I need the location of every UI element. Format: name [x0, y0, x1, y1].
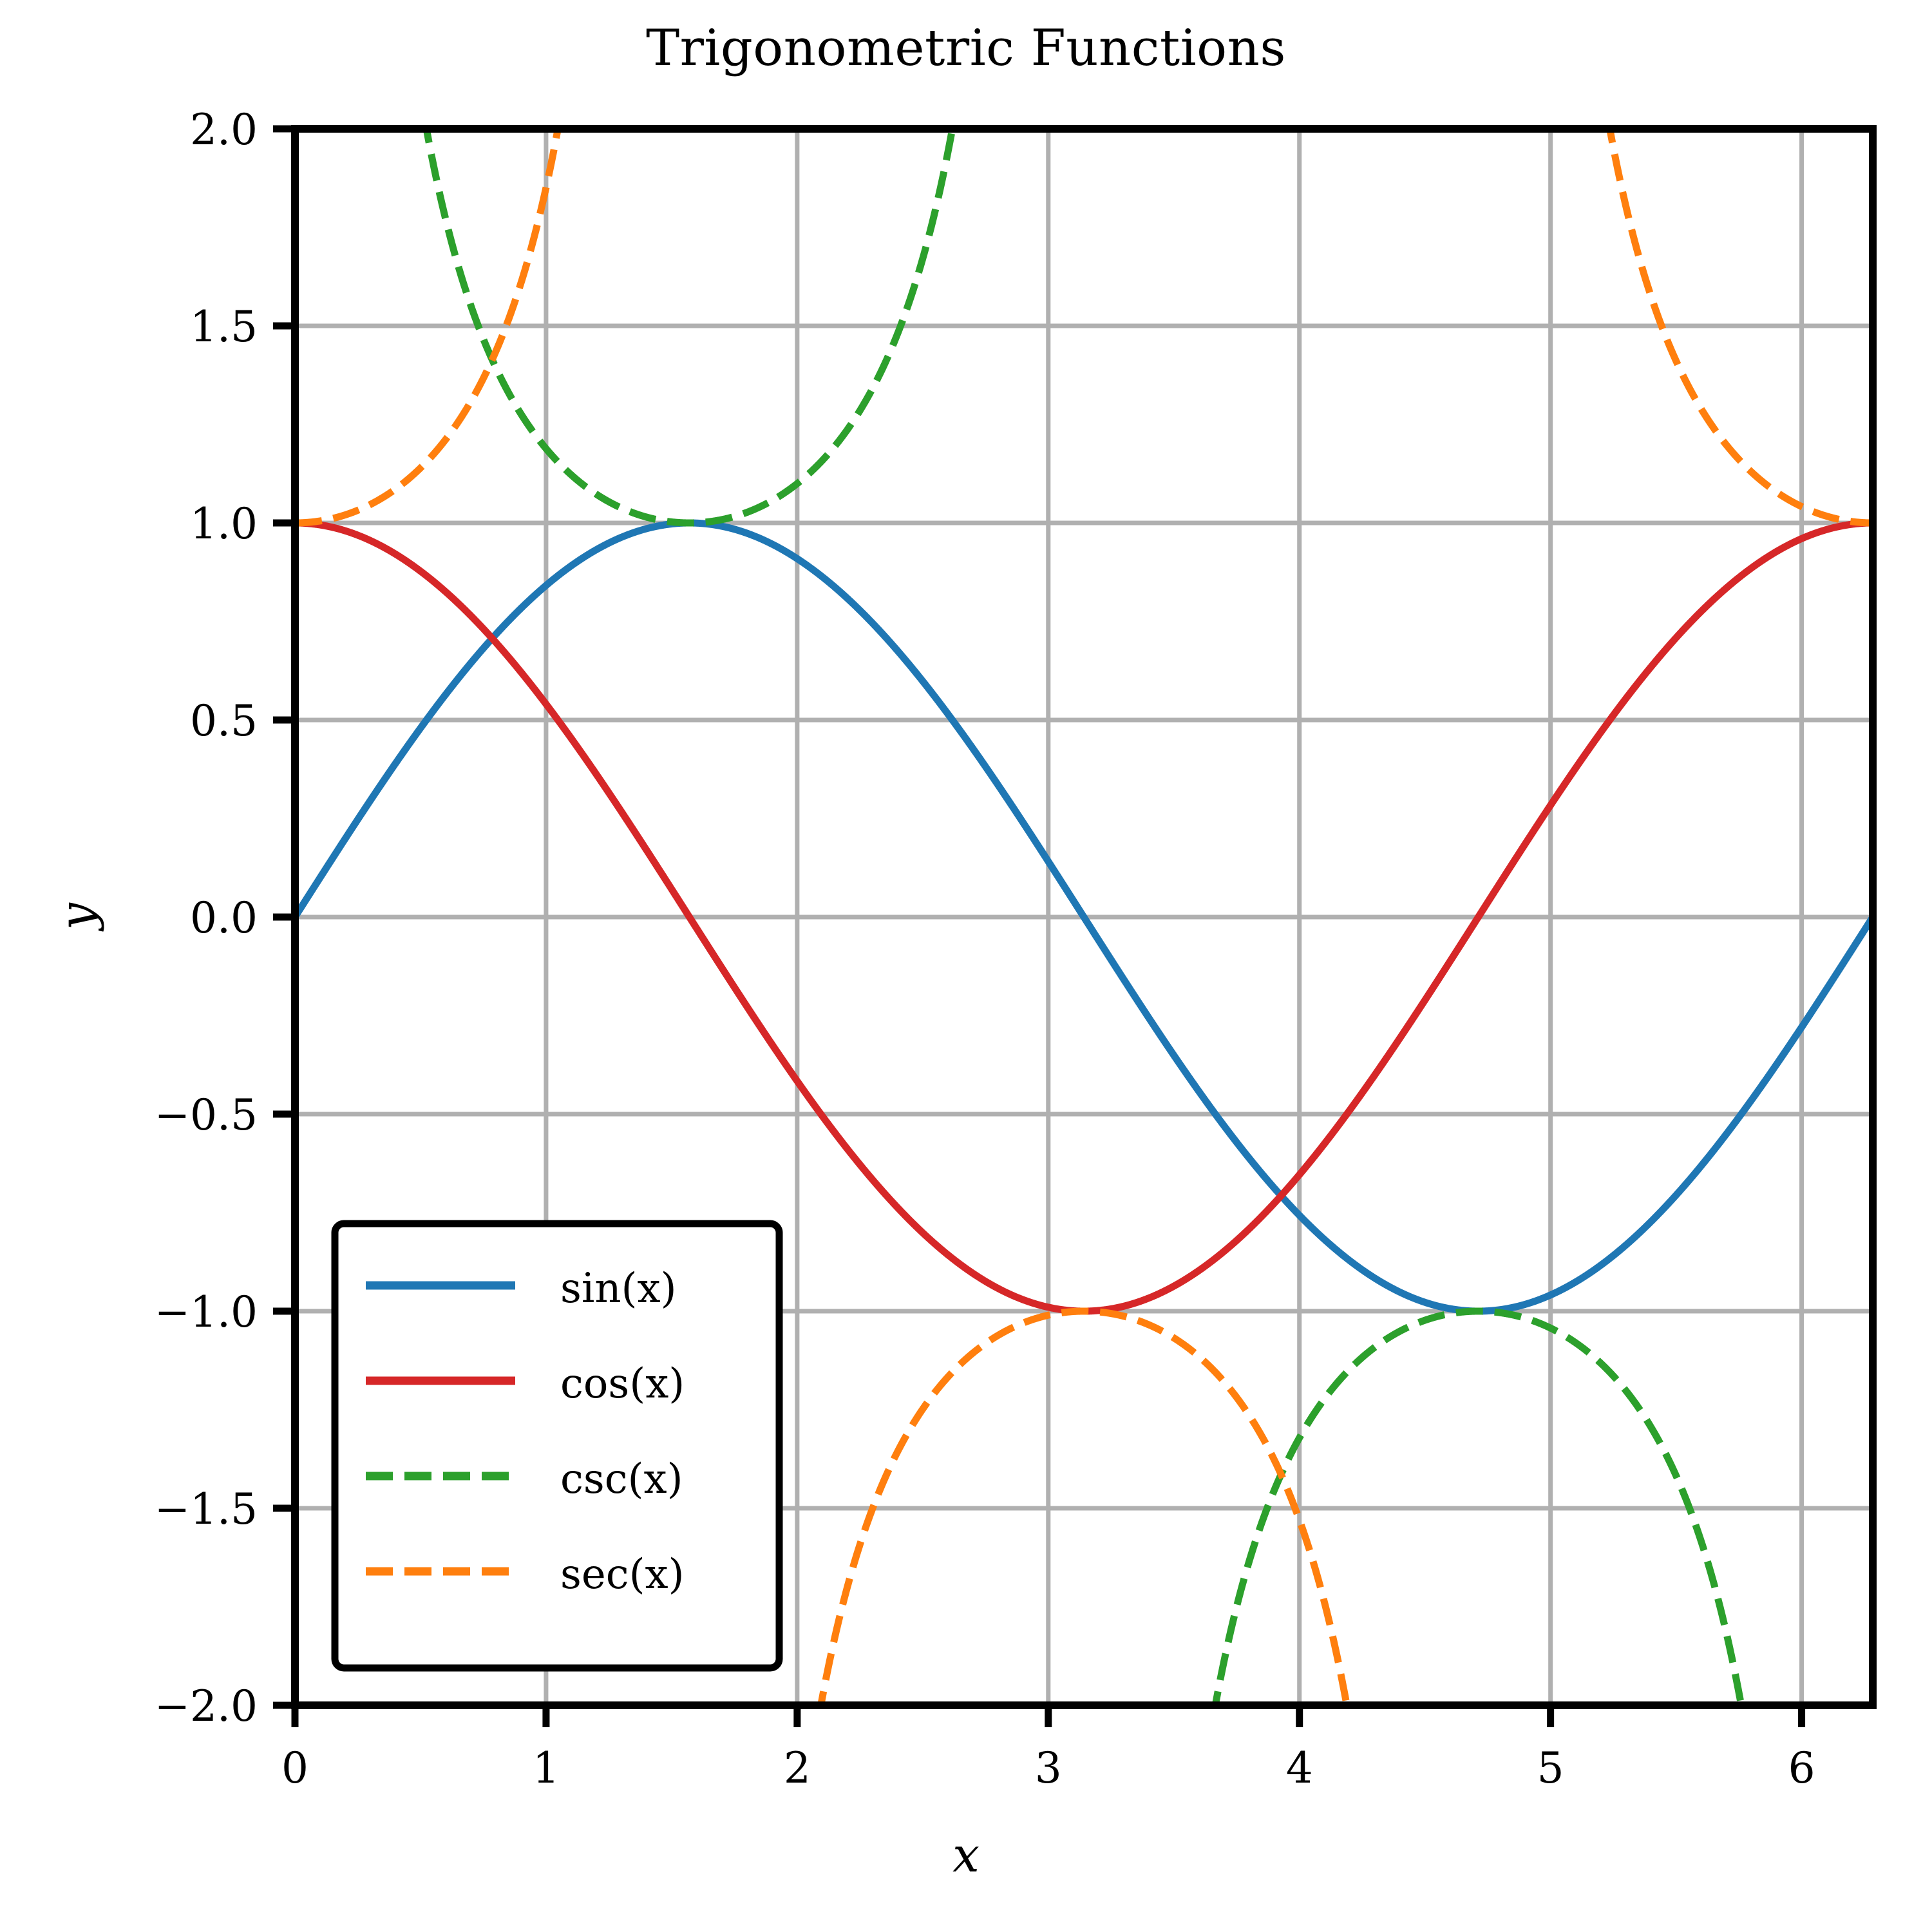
x-tick-label: 1	[533, 1743, 560, 1793]
y-tick-label: −2.0	[155, 1681, 258, 1731]
trigonometric-functions-plot: 0123456−2.0−1.5−1.0−0.50.00.51.01.52.0si…	[0, 0, 1932, 1932]
legend-box	[335, 1224, 779, 1668]
y-tick-label: 0.0	[190, 893, 258, 943]
legend-label: sec(x)	[560, 1551, 685, 1598]
y-tick-label: 1.0	[190, 499, 258, 549]
y-axis-label: y	[50, 839, 105, 994]
y-tick-label: −0.5	[155, 1090, 258, 1140]
legend[interactable]: sin(x)cos(x)csc(x)sec(x)	[335, 1224, 779, 1668]
x-tick-label: 0	[281, 1743, 308, 1793]
y-tick-label: 2.0	[190, 105, 258, 155]
x-tick-label: 3	[1035, 1743, 1062, 1793]
curve-sec	[1504, 0, 1873, 523]
y-tick-label: −1.0	[155, 1287, 258, 1337]
x-tick-label: 4	[1286, 1743, 1313, 1793]
y-tick-label: −1.5	[155, 1484, 258, 1534]
x-tick-label: 6	[1788, 1743, 1815, 1793]
curve-csc	[320, 0, 1059, 523]
figure-canvas: Trigonometric Functions 0123456−2.0−1.5−…	[0, 0, 1932, 1932]
legend-label: csc(x)	[560, 1455, 683, 1503]
legend-label: sin(x)	[560, 1265, 677, 1312]
legend-label: cos(x)	[560, 1360, 685, 1408]
x-axis-label: x	[0, 1828, 1932, 1883]
y-tick-label: 0.5	[190, 696, 258, 746]
x-tick-label: 2	[784, 1743, 811, 1793]
x-tick-label: 5	[1537, 1743, 1564, 1793]
curve-sec	[295, 0, 664, 523]
y-tick-label: 1.5	[190, 302, 258, 352]
